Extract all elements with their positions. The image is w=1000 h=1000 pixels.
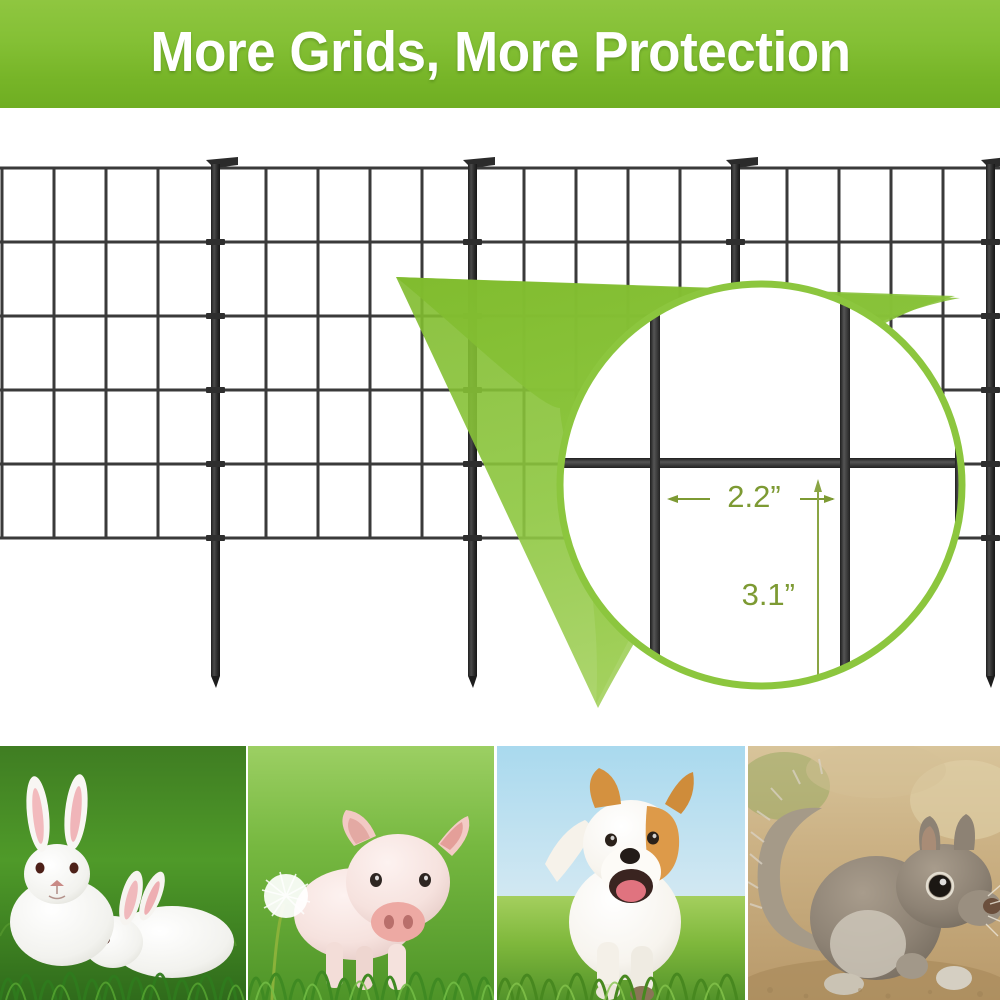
dimension-width-label: 2.2” xyxy=(727,479,780,514)
photo-piglet: Piglet in grass with dandelion xyxy=(248,746,494,1000)
header-banner: More Grids, More Protection xyxy=(0,0,1000,108)
dimension-height-label: 3.1” xyxy=(742,577,795,612)
banner-title: More Grids, More Protection xyxy=(150,24,850,85)
animal-photo-strip: Two white rabbits in grass xyxy=(0,746,1000,1000)
fence-illustration-area: 2.2” 3.1” xyxy=(0,108,1000,746)
product-image: More Grids, More Protection xyxy=(0,0,1000,1000)
fence-diagram: 2.2” 3.1” xyxy=(0,108,1000,746)
photo-rabbits: Two white rabbits in grass xyxy=(0,746,246,1000)
photo-dog: Jack Russell terrier running xyxy=(497,746,745,1000)
photo-squirrel: Gray squirrel on ground xyxy=(748,746,1000,1000)
fence-stake xyxy=(981,157,1000,688)
fence-stake xyxy=(206,157,238,688)
